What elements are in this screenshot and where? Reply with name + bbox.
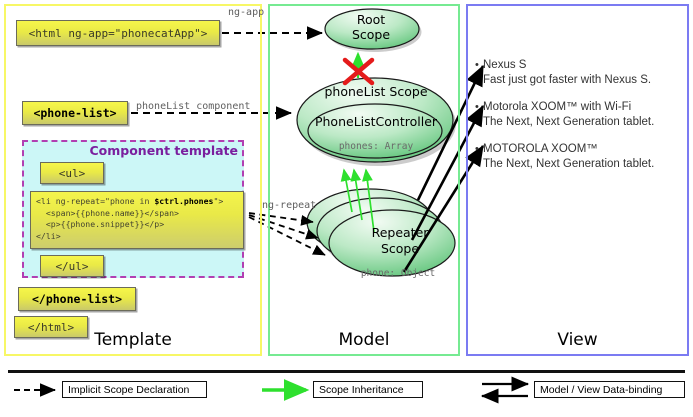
bullet-icon: • — [475, 102, 479, 113]
code-line-1-pre: <li ng-repeat="phone in — [36, 196, 154, 206]
code-line-1-bold: $ctrl.phones — [154, 196, 213, 206]
ul-open-tag-box[interactable]: <ul> — [40, 162, 104, 184]
view-phone-list: • Nexus S Fast just got faster with Nexu… — [483, 58, 689, 184]
list-item[interactable]: • MOTOROLA XOOM™ The Next, Next Generati… — [483, 142, 689, 172]
legend-item-data-binding: Model / View Data-binding — [534, 381, 685, 398]
ng-repeat-label: ng-repeat — [262, 200, 316, 211]
ul-close-tag-box[interactable]: </ul> — [40, 255, 104, 277]
legend-divider — [8, 370, 685, 373]
ng-app-label: ng-app — [228, 7, 264, 18]
ng-repeat-code-block[interactable]: <li ng-repeat="phone in $ctrl.phones"> <… — [30, 191, 244, 249]
phone-snippet: The Next, Next Generation tablet. — [483, 115, 689, 130]
column-model — [268, 4, 460, 356]
phone-name: Motorola XOOM™ with Wi-Fi — [483, 100, 689, 115]
column-label-template: Template — [4, 330, 262, 350]
phone-snippet: The Next, Next Generation tablet. — [483, 157, 689, 172]
code-line-3: <p>{{phone.snippet}}</p> — [36, 219, 164, 229]
list-item[interactable]: • Nexus S Fast just got faster with Nexu… — [483, 58, 689, 88]
bullet-icon: • — [475, 144, 479, 155]
component-template-title: Component template — [22, 143, 238, 158]
code-line-4: </li> — [36, 231, 61, 241]
phone-list-close-tag-box[interactable]: </phone-list> — [18, 287, 136, 311]
legend-item-scope-inheritance: Scope Inheritance — [313, 381, 423, 398]
diagram-canvas: Component template <html ng-app="phoneca… — [0, 0, 693, 417]
html-open-tag-box[interactable]: <html ng-app="phonecatApp"> — [16, 20, 220, 46]
list-item[interactable]: • Motorola XOOM™ with Wi-Fi The Next, Ne… — [483, 100, 689, 130]
bullet-icon: • — [475, 60, 479, 71]
legend-item-implicit-scope-declaration: Implicit Scope Declaration — [62, 381, 207, 398]
phone-name: Nexus S — [483, 58, 689, 73]
column-label-model: Model — [268, 330, 460, 350]
code-line-1-post: "> — [213, 196, 223, 206]
code-line-2: <span>{{phone.name}}</span> — [36, 208, 179, 218]
phonelist-component-label: phoneList component — [136, 101, 250, 112]
phone-snippet: Fast just got faster with Nexus S. — [483, 73, 689, 88]
legend-databinding-glyph — [482, 384, 528, 396]
phone-name: MOTOROLA XOOM™ — [483, 142, 689, 157]
phone-list-open-tag-box[interactable]: <phone-list> — [22, 101, 128, 125]
column-label-view: View — [466, 330, 689, 350]
